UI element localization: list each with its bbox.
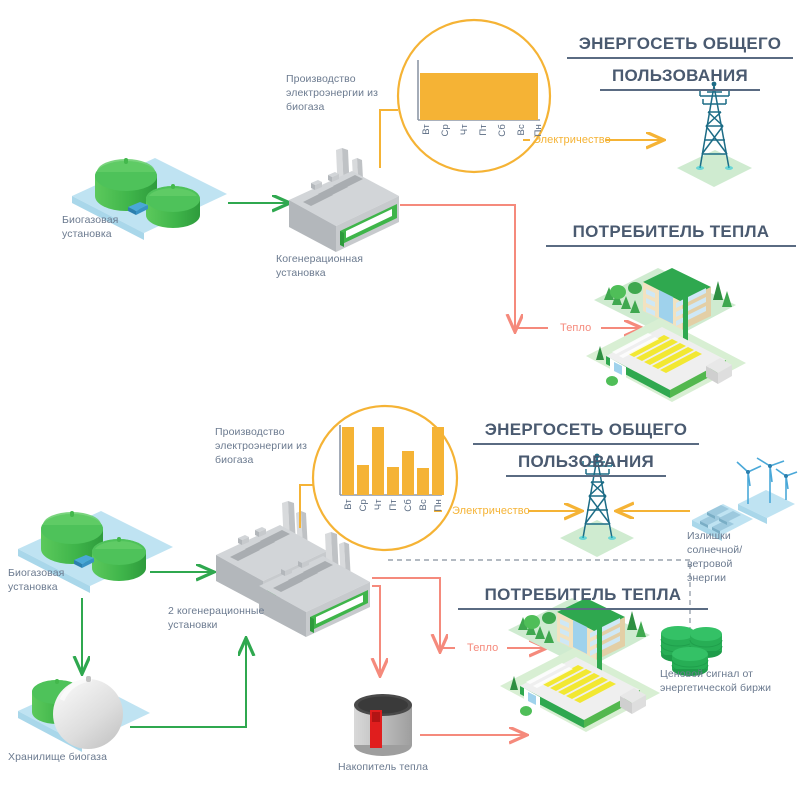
grid-heading-top-line1: ЭНЕРГОСЕТЬ ОБЩЕГО xyxy=(560,32,800,55)
heat-label-top: Тепло xyxy=(560,321,591,335)
heat-line-top-1 xyxy=(400,205,515,235)
chart-bottom-tick-6: Пн xyxy=(433,499,444,511)
heat-heading-top: ПОТРЕБИТЕЛЬ ТЕПЛА xyxy=(540,220,802,252)
chp-label-top: Когенерационная установка xyxy=(276,252,386,280)
heat-heading-top-underline xyxy=(546,245,796,247)
chp-label-bottom: 2 когенерационные установки xyxy=(168,604,276,632)
chart-top-tick-3: Пт xyxy=(478,124,489,136)
chart-top-tick-6: Пн xyxy=(533,124,544,136)
heat-heading-top-text: ПОТРЕБИТЕЛЬ ТЕПЛА xyxy=(540,220,802,243)
chart-bottom-tick-4: Сб xyxy=(403,499,414,512)
grid-heading-top-underline2 xyxy=(600,89,760,91)
chart-top-tick-5: Вс xyxy=(516,124,527,136)
chart-leader-line-top xyxy=(380,110,398,168)
electricity-label-bottom: Электричество xyxy=(452,504,530,518)
chart-caption-top: Производство электроэнергии из биогаза xyxy=(286,72,391,114)
electricity-label-top: Электричество xyxy=(533,133,611,147)
biogas-plant-label-bottom: Биогазовая установка xyxy=(8,566,108,594)
heat-heading-bottom-text: ПОТРЕБИТЕЛЬ ТЕПЛА xyxy=(452,583,714,606)
chp-plant-icon-top xyxy=(289,148,399,252)
heat-heading-bottom-underline xyxy=(458,608,708,610)
biogas-plant-label-top: Биогазовая установка xyxy=(62,213,162,241)
heat-accumulator-icon xyxy=(354,694,412,756)
grid-heading-top: ЭНЕРГОСЕТЬ ОБЩЕГО ПОЛЬЗОВАНИЯ xyxy=(560,32,800,96)
grid-heading-bottom-line1: ЭНЕРГОСЕТЬ ОБЩЕГО xyxy=(466,418,706,441)
grid-heading-bottom-underline1 xyxy=(473,443,699,445)
grid-heading-bottom: ЭНЕРГОСЕТЬ ОБЩЕГО ПОЛЬЗОВАНИЯ xyxy=(466,418,706,482)
heat-heading-bottom: ПОТРЕБИТЕЛЬ ТЕПЛА xyxy=(452,583,714,615)
grid-heading-top-line2: ПОЛЬЗОВАНИЯ xyxy=(560,64,800,87)
diagram-canvas: ЭНЕРГОСЕТЬ ОБЩЕГО ПОЛЬЗОВАНИЯ ПОТРЕБИТЕЛ… xyxy=(0,0,808,785)
chart-top-tick-0: Вт xyxy=(421,124,432,135)
chart-bottom-tick-1: Ср xyxy=(358,499,369,512)
chart-bottom-tick-2: Чт xyxy=(373,499,384,510)
chart-bottom-tick-5: Вс xyxy=(418,499,429,511)
chart-top-tick-1: Ср xyxy=(440,124,451,137)
chart-bottom-tick-3: Пт xyxy=(388,499,399,511)
chart-top-tick-2: Чт xyxy=(459,124,470,135)
heat-line-bottom-1 xyxy=(372,578,440,600)
heat-label-bottom: Тепло xyxy=(467,641,498,655)
grid-heading-bottom-line2: ПОЛЬЗОВАНИЯ xyxy=(466,450,706,473)
chart-bottom-tick-0: Вт xyxy=(343,499,354,510)
renewables-label: Излишки солнечной/ветровой энергии xyxy=(687,529,755,585)
price-signal-label: Ценовой сигнал от энергетической биржи xyxy=(660,667,800,695)
heat-arrow-to-accumulator xyxy=(372,586,380,674)
grid-heading-top-underline1 xyxy=(567,57,793,59)
heat-accumulator-label: Накопитель тепла xyxy=(338,760,468,774)
chart-caption-bottom: Производство электроэнергии из биогаза xyxy=(215,425,320,467)
biogas-storage-label: Хранилище биогаза xyxy=(8,750,108,764)
power-pylon-icon-top xyxy=(677,82,752,187)
chart-top-tick-4: Сб xyxy=(497,124,508,137)
grid-heading-bottom-underline2 xyxy=(506,475,666,477)
biogas-storage-icon xyxy=(18,676,150,752)
